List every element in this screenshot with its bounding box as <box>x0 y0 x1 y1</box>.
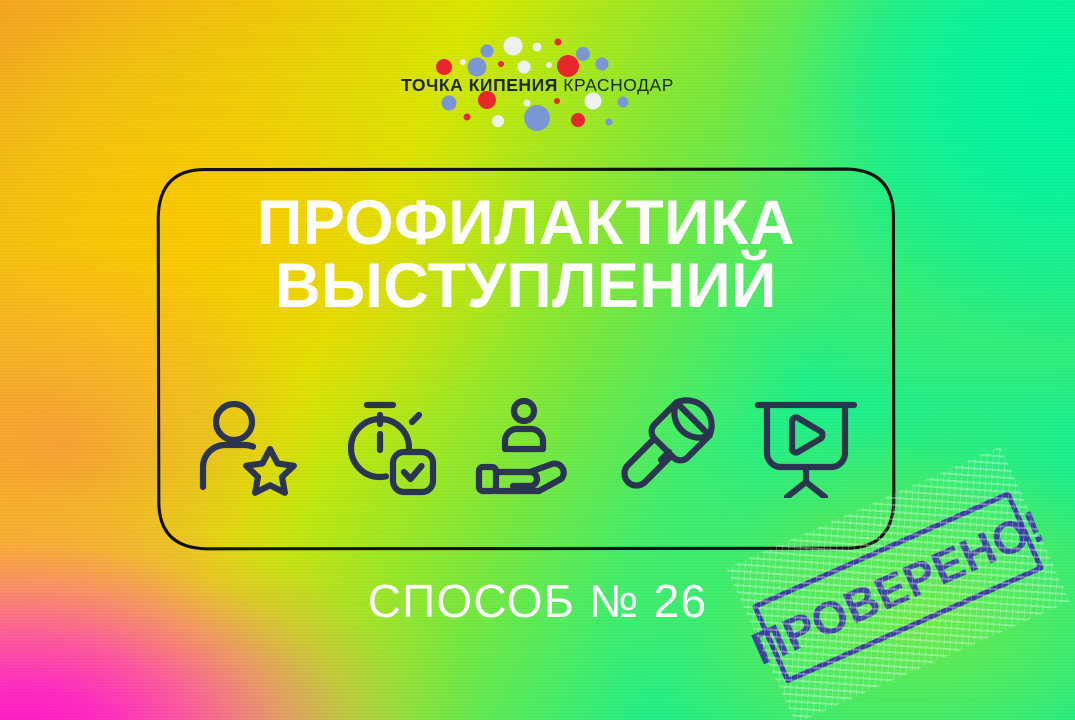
poster-canvas: ТОЧКА КИПЕНИЯ КРАСНОДАР ПРОФИЛАКТИКА ВЫС… <box>0 0 1075 720</box>
logo-word-bold: ТОЧКА КИПЕНИЯ <box>401 75 558 95</box>
logo-dot-blue <box>480 45 493 58</box>
logo-wordmark: ТОЧКА КИПЕНИЯ КРАСНОДАР <box>397 74 679 96</box>
presentation-play-icon <box>747 387 865 505</box>
logo-dot-red <box>498 61 504 67</box>
logo-dot-red <box>571 113 585 127</box>
logo-dot-white <box>517 61 530 74</box>
microphone-icon <box>607 387 725 505</box>
logo-word-regular: КРАСНОДАР <box>563 75 674 95</box>
icon-strip <box>157 383 895 508</box>
logo-dot-white <box>492 115 504 127</box>
logo-dot-blue <box>441 96 456 111</box>
logo-dot-blue <box>595 58 608 71</box>
page-title-line-1: ПРОФИЛАКТИКА <box>157 192 895 255</box>
logo-dot-white <box>523 100 530 107</box>
stopwatch-check-icon <box>327 387 445 505</box>
page-title: ПРОФИЛАКТИКА ВЫСТУПЛЕНИЙ <box>157 192 895 318</box>
logo-dot-white <box>503 37 522 56</box>
logo-dot-blue <box>617 97 628 108</box>
logo-dot-red <box>554 98 560 104</box>
logo-dot-white <box>546 62 552 68</box>
logo-dot-red <box>436 59 452 75</box>
logo-dot-blue <box>605 119 612 126</box>
hand-person-icon <box>467 387 585 505</box>
logo-dot-blue <box>524 105 550 131</box>
page-title-line-2: ВЫСТУПЛЕНИЙ <box>157 255 895 318</box>
brand-logo: ТОЧКА КИПЕНИЯ КРАСНОДАР <box>0 34 1075 136</box>
logo-dot-red <box>463 114 470 121</box>
logo-dot-white <box>532 43 541 52</box>
logo-dot-blue <box>576 47 590 61</box>
logo-dot-white <box>460 59 466 65</box>
person-star-icon <box>187 387 305 505</box>
logo-dot-red <box>554 39 561 46</box>
